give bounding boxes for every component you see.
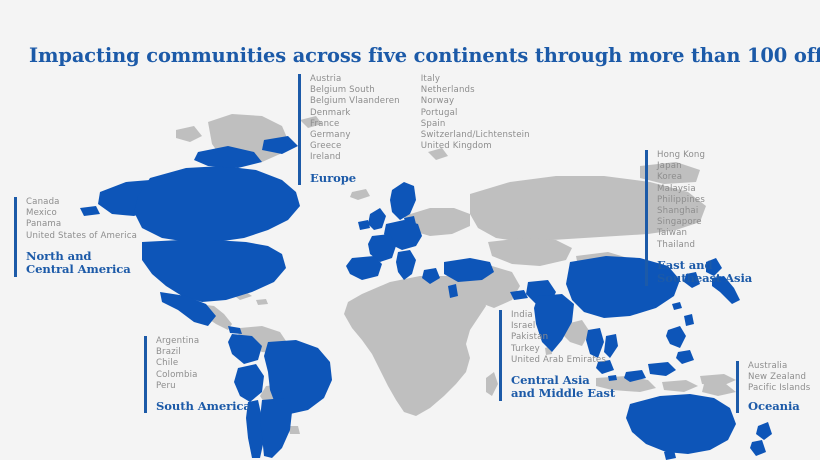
region-country-columns: Argentina Brazil Chile Colombia Peru	[156, 336, 251, 392]
region-heading-line: Europe	[310, 172, 530, 185]
region-heading-line: North and	[26, 250, 137, 263]
region-country-columns: Austria Belgium South Belgium Vlaanderen…	[310, 74, 530, 164]
region-country-column: Hong Kong Japan Korea Malaysia Philippin…	[657, 150, 705, 251]
country-item: Pacific Islands	[748, 383, 810, 394]
country-item: Australia	[748, 361, 810, 372]
country-item: Belgium South	[310, 85, 400, 96]
country-item: Korea	[657, 172, 705, 183]
country-item: Turkey	[511, 344, 606, 355]
region-heading-line: Central Asia	[511, 374, 615, 387]
region-country-columns: Canada Mexico Panama United States of Am…	[26, 197, 137, 242]
region-country-columns: Australia New Zealand Pacific Islands	[748, 361, 810, 395]
region-heading-south-america: South America	[156, 400, 251, 413]
country-item: Netherlands	[421, 85, 530, 96]
region-block-europe[interactable]: Austria Belgium South Belgium Vlaanderen…	[298, 74, 530, 185]
region-heading-line: East and	[657, 259, 752, 272]
country-item: Austria	[310, 74, 400, 85]
country-item: United Arab Emirates	[511, 355, 606, 366]
region-heading-north-america: North and Central America	[26, 250, 137, 277]
country-item: Pakistan	[511, 332, 606, 343]
country-item: Italy	[421, 74, 530, 85]
country-item: Belgium Vlaanderen	[310, 96, 400, 107]
region-heading-line: Southeast Asia	[657, 272, 752, 285]
country-item: Denmark	[310, 108, 400, 119]
country-item: Canada	[26, 197, 137, 208]
country-item: Ireland	[310, 152, 400, 163]
country-item: India	[511, 310, 606, 321]
country-item: Mexico	[26, 208, 137, 219]
region-country-column: Italy Netherlands Norway Portugal Spain …	[421, 74, 530, 164]
country-item: Japan	[657, 161, 705, 172]
country-item: Spain	[421, 119, 530, 130]
page-title: Impacting communities across five contin…	[29, 44, 809, 67]
region-heading-line: Central America	[26, 263, 137, 276]
country-item: Germany	[310, 130, 400, 141]
region-country-column: Canada Mexico Panama United States of Am…	[26, 197, 137, 242]
country-item: Singapore	[657, 217, 705, 228]
region-block-south-america[interactable]: Argentina Brazil Chile Colombia Peru Sou…	[144, 336, 251, 413]
country-item: Norway	[421, 96, 530, 107]
country-item: Malaysia	[657, 184, 705, 195]
country-item: Argentina	[156, 336, 199, 347]
country-item: Philippines	[657, 195, 705, 206]
country-item: Panama	[26, 219, 137, 230]
region-heading-oceania: Oceania	[748, 400, 810, 413]
region-country-column: Austria Belgium South Belgium Vlaanderen…	[310, 74, 400, 164]
region-block-east-southeast-asia[interactable]: Hong Kong Japan Korea Malaysia Philippin…	[645, 150, 752, 286]
region-country-columns: Hong Kong Japan Korea Malaysia Philippin…	[657, 150, 752, 251]
country-item: New Zealand	[748, 372, 810, 383]
country-item: Taiwan	[657, 228, 705, 239]
country-item: Switzerland/Lichtenstein	[421, 130, 530, 141]
country-item: Colombia	[156, 370, 199, 381]
region-heading-europe: Europe	[310, 172, 530, 185]
country-item: Israel	[511, 321, 606, 332]
region-block-central-asia-middle-east[interactable]: India Israel Pakistan Turkey United Arab…	[499, 310, 615, 401]
region-heading-east-southeast-asia: East and Southeast Asia	[657, 259, 752, 286]
country-item: Chile	[156, 358, 199, 369]
country-item: France	[310, 119, 400, 130]
country-item: United Kingdom	[421, 141, 530, 152]
region-heading-line: Oceania	[748, 400, 810, 413]
region-heading-central-asia-middle-east: Central Asia and Middle East	[511, 374, 615, 401]
country-item: Peru	[156, 381, 199, 392]
region-block-oceania[interactable]: Australia New Zealand Pacific Islands Oc…	[736, 361, 810, 413]
country-item: Greece	[310, 141, 400, 152]
country-item: Brazil	[156, 347, 199, 358]
country-item: Shanghai	[657, 206, 705, 217]
country-item: Portugal	[421, 108, 530, 119]
region-heading-line: and Middle East	[511, 387, 615, 400]
country-item: Hong Kong	[657, 150, 705, 161]
country-item: Thailand	[657, 240, 705, 251]
country-item: United States of America	[26, 231, 137, 242]
region-country-column: India Israel Pakistan Turkey United Arab…	[511, 310, 606, 366]
region-country-column: Argentina Brazil Chile Colombia Peru	[156, 336, 199, 392]
region-country-column: Australia New Zealand Pacific Islands	[748, 361, 810, 395]
region-heading-line: South America	[156, 400, 251, 413]
region-country-columns: India Israel Pakistan Turkey United Arab…	[511, 310, 615, 366]
infographic-canvas: Impacting communities across five contin…	[0, 0, 820, 460]
region-block-north-america[interactable]: Canada Mexico Panama United States of Am…	[14, 197, 137, 277]
